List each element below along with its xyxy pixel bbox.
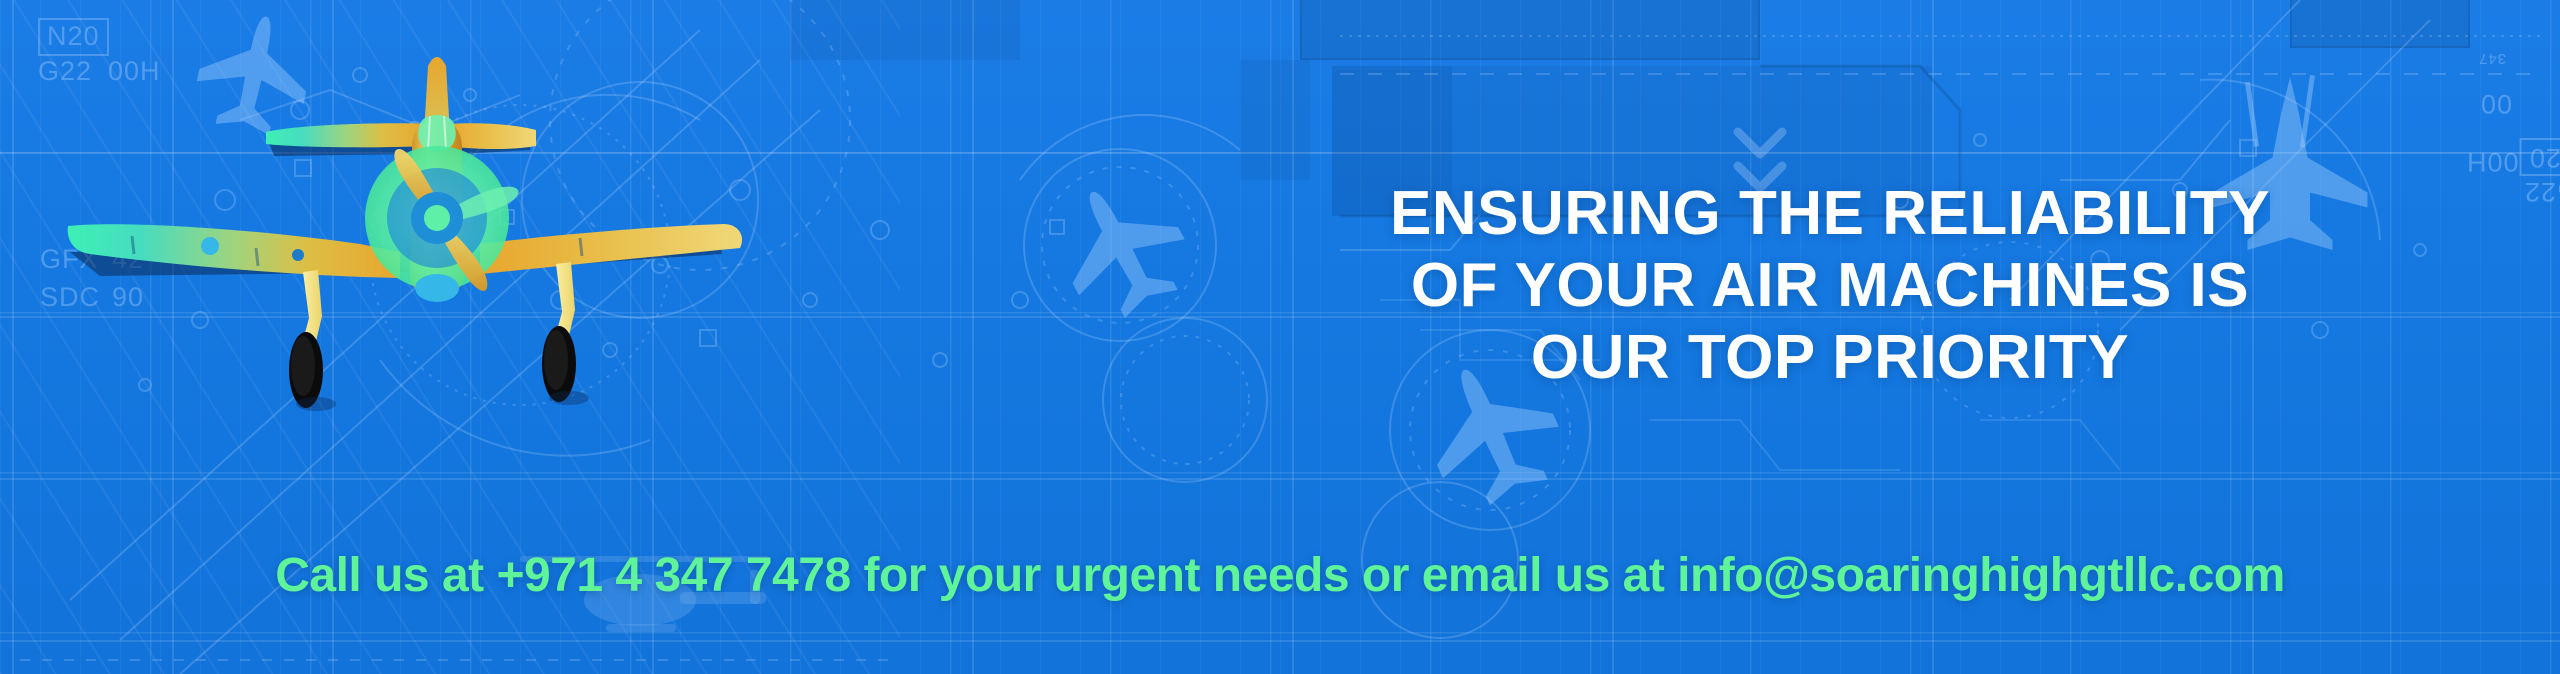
- air-intake: [415, 274, 459, 302]
- wing-marker: [292, 249, 304, 261]
- blueprint-mark-right-347: 347: [2478, 50, 2506, 67]
- blueprint-mark-right-00: 00: [2480, 88, 2512, 119]
- blueprint-mark-right-00h: 00H: [2466, 146, 2519, 177]
- right-corner-plate: [2290, 0, 2470, 48]
- left-landing-gear: [289, 270, 323, 408]
- wing-marker: [201, 237, 219, 255]
- right-main-wing: [480, 224, 742, 274]
- aviation-banner: N20 G22 00H GFX 42 SDC 90 00 N20 00H G22…: [0, 0, 2560, 674]
- blueprint-mark-right-n20: N20: [2520, 138, 2560, 176]
- propeller-aircraft-illustration: [60, 40, 760, 520]
- side-plate: [1240, 60, 1310, 180]
- contact-cta-text[interactable]: Call us at +971 4 347 7478 for your urge…: [0, 548, 2560, 603]
- blueprint-hline: [0, 640, 2560, 642]
- headline-line-2: OF YOUR AIR MACHINES IS: [1330, 250, 2330, 322]
- corner-plate: [790, 0, 1020, 60]
- headline-line-1: ENSURING THE RELIABILITY: [1330, 178, 2330, 250]
- headline-line-3: OUR TOP PRIORITY: [1330, 322, 2330, 394]
- right-landing-gear: [542, 262, 576, 402]
- blueprint-mark-right-g22: G22: [2524, 176, 2560, 207]
- spinner-hub: [424, 205, 450, 231]
- hud-plate: [1300, 0, 1760, 60]
- page-title: ENSURING THE RELIABILITY OF YOUR AIR MAC…: [1330, 178, 2330, 394]
- left-stabilizer: [266, 123, 428, 147]
